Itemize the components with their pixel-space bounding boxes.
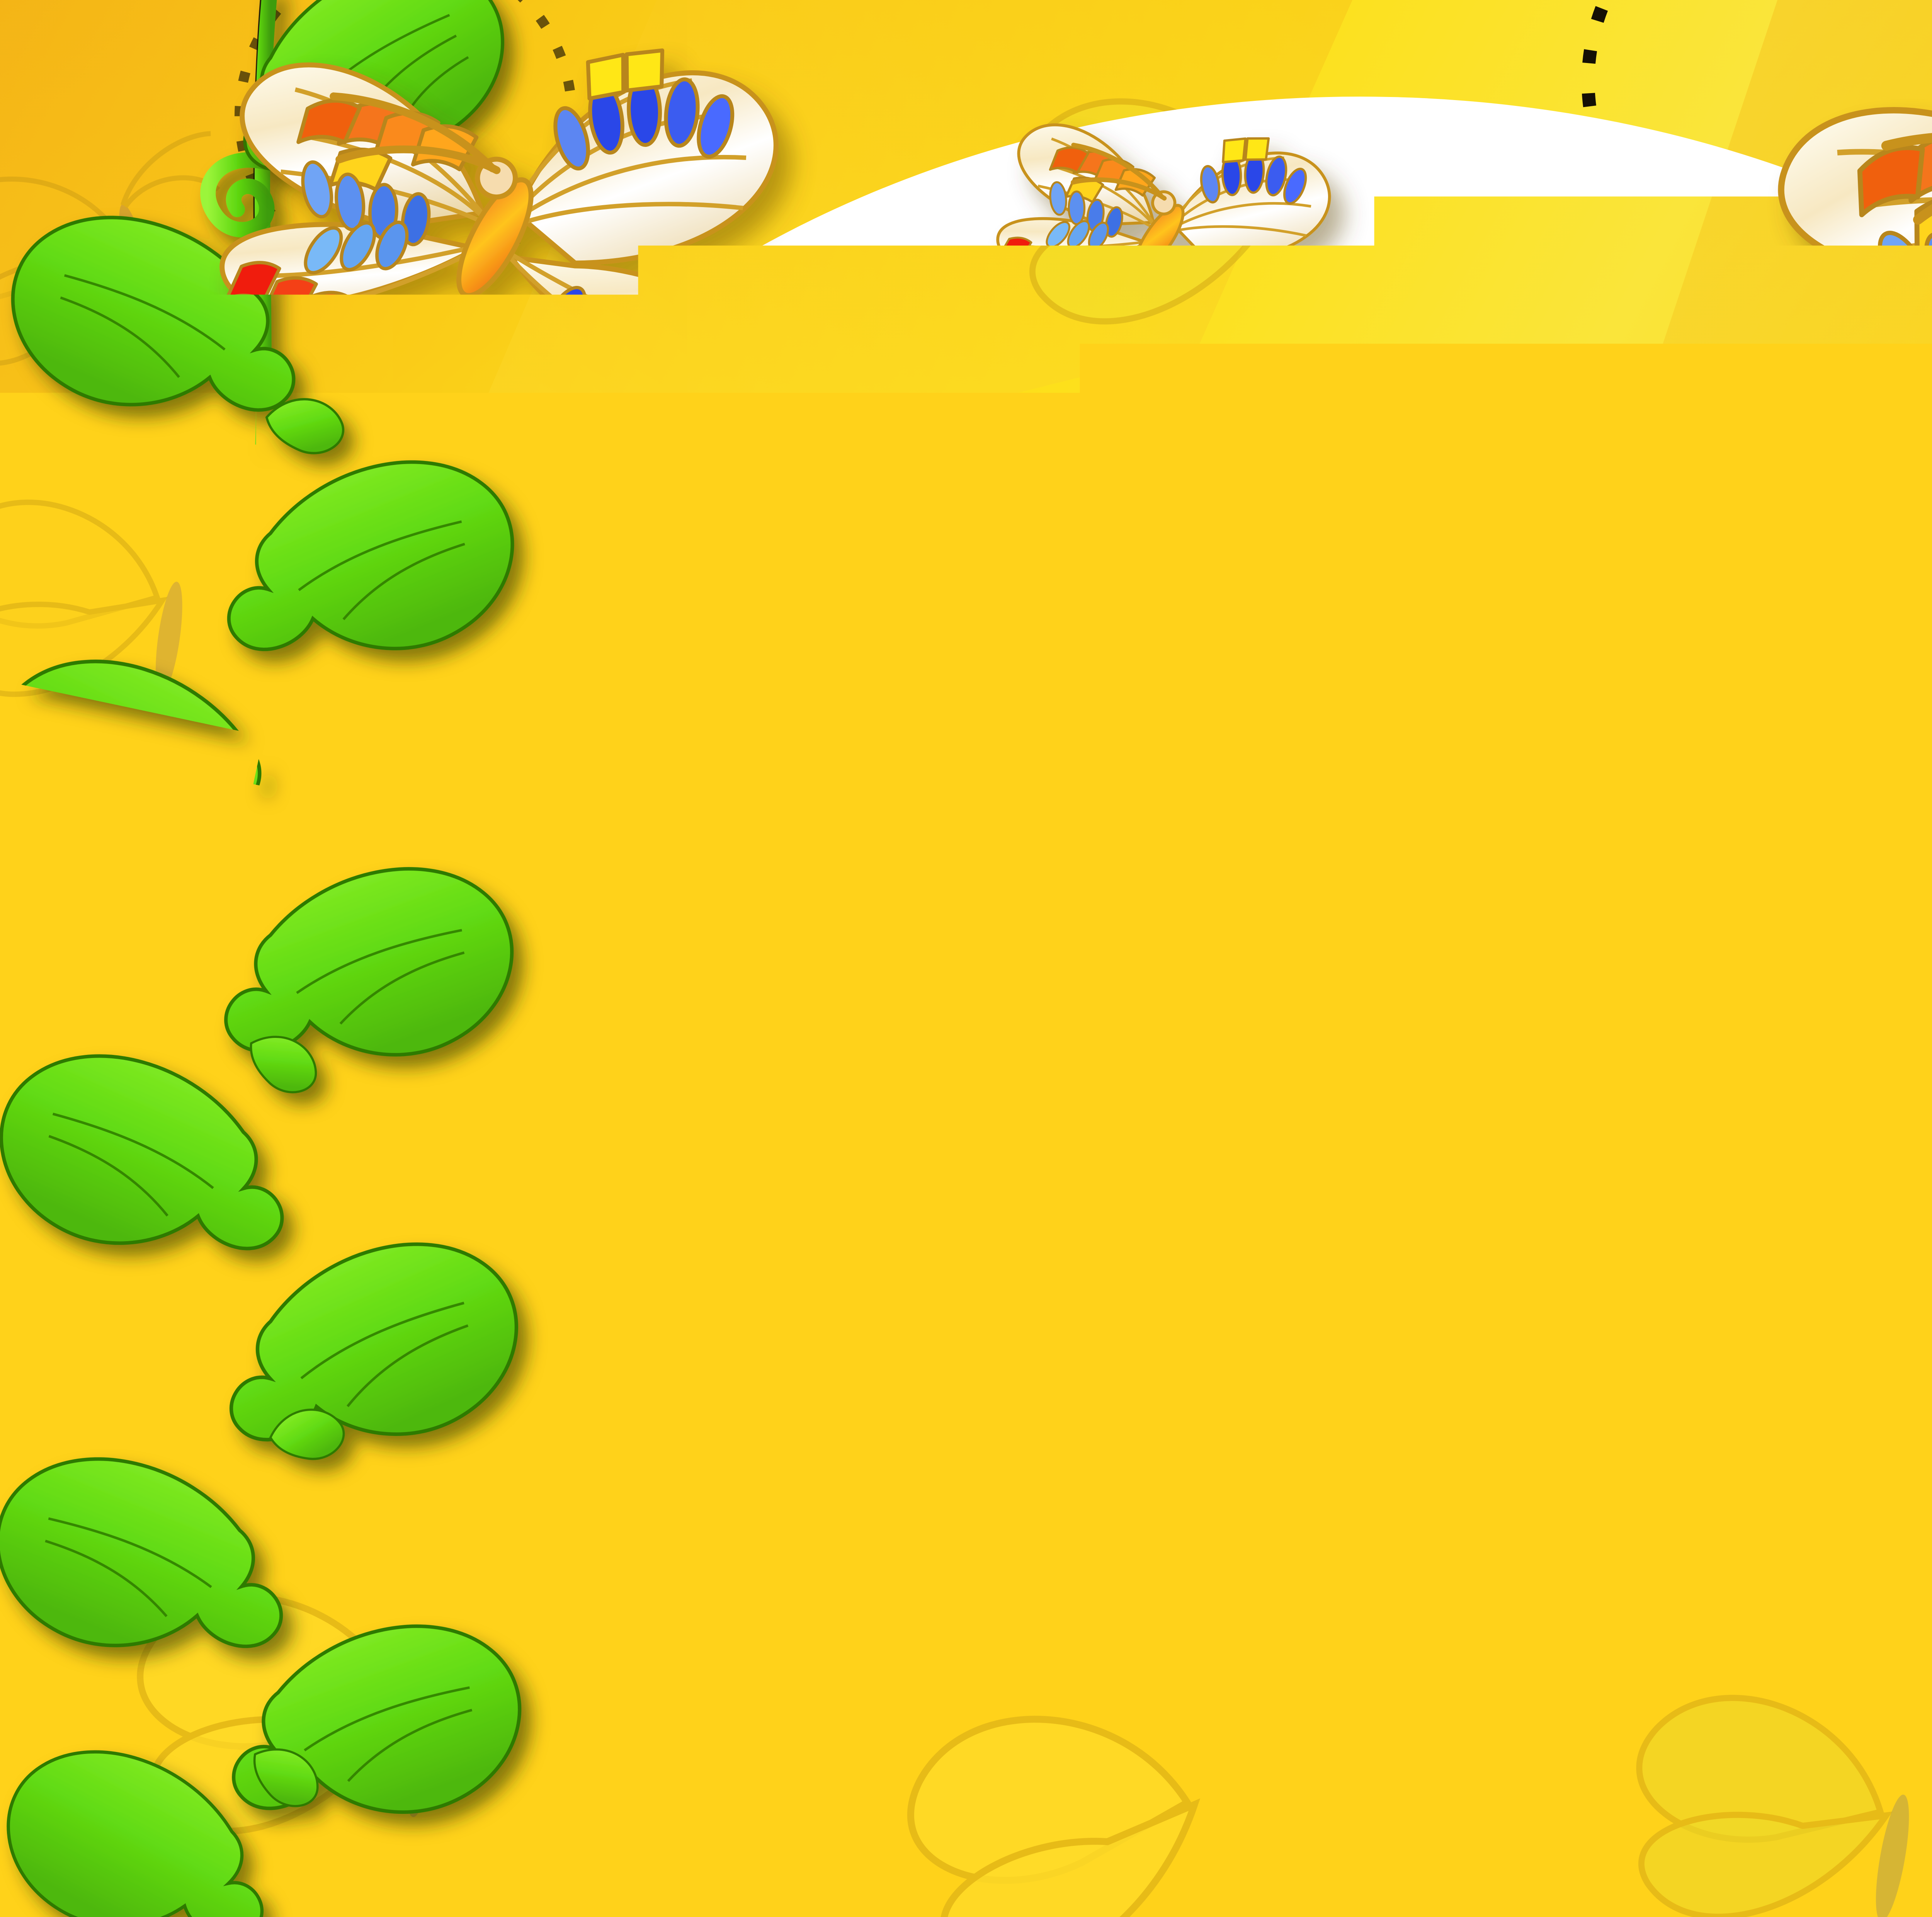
- signature-date: 30.04.2017г.: [657, 1160, 1932, 1197]
- greeting-card: ВЛАДИМИР ВИКТОРОВИЧ! От души Вас с Юбиле…: [0, 0, 1932, 1917]
- page-title: ВЛАДИМИР ВИКТОРОВИЧ!: [657, 336, 1932, 398]
- poem-line-7: Чтоб от триумфов кругом голова,: [657, 922, 1932, 988]
- poem-line-2: К большому счастью и к большим успехам.: [657, 594, 1932, 660]
- poem-line-8: Всё, как и полагается мужчинам!: [657, 988, 1932, 1054]
- greeting-subtitle: От души Вас с Юбилеем поздравляем!!!: [657, 423, 1932, 479]
- poem-line-1: 55 – не возраст, а ступень: [657, 515, 1932, 594]
- poem-line-4: И каждый миг – прекрасной новой вехой.: [657, 725, 1932, 791]
- poem: 55 – не возраст, а ступень К большому сч…: [657, 515, 1932, 1054]
- greeting-text-block: ВЛАДИМИР ВИКТОРОВИЧ! От души Вас с Юбиле…: [657, 336, 1932, 1197]
- age-number: 55: [1079, 522, 1135, 586]
- poem-line-5: Пусть самые прекрасные слова: [657, 791, 1932, 857]
- poem-line-1-rest: – не возраст, а ступень: [1135, 529, 1665, 584]
- poem-line-3: Пусть будет новым шагом каждый день,: [657, 660, 1932, 726]
- poem-line-6: Звучат всегда торжественно и чинно,: [657, 857, 1932, 922]
- signature-collective: Коллектив ГБУ ЛО «ЦОПВВС»: [657, 1091, 1932, 1133]
